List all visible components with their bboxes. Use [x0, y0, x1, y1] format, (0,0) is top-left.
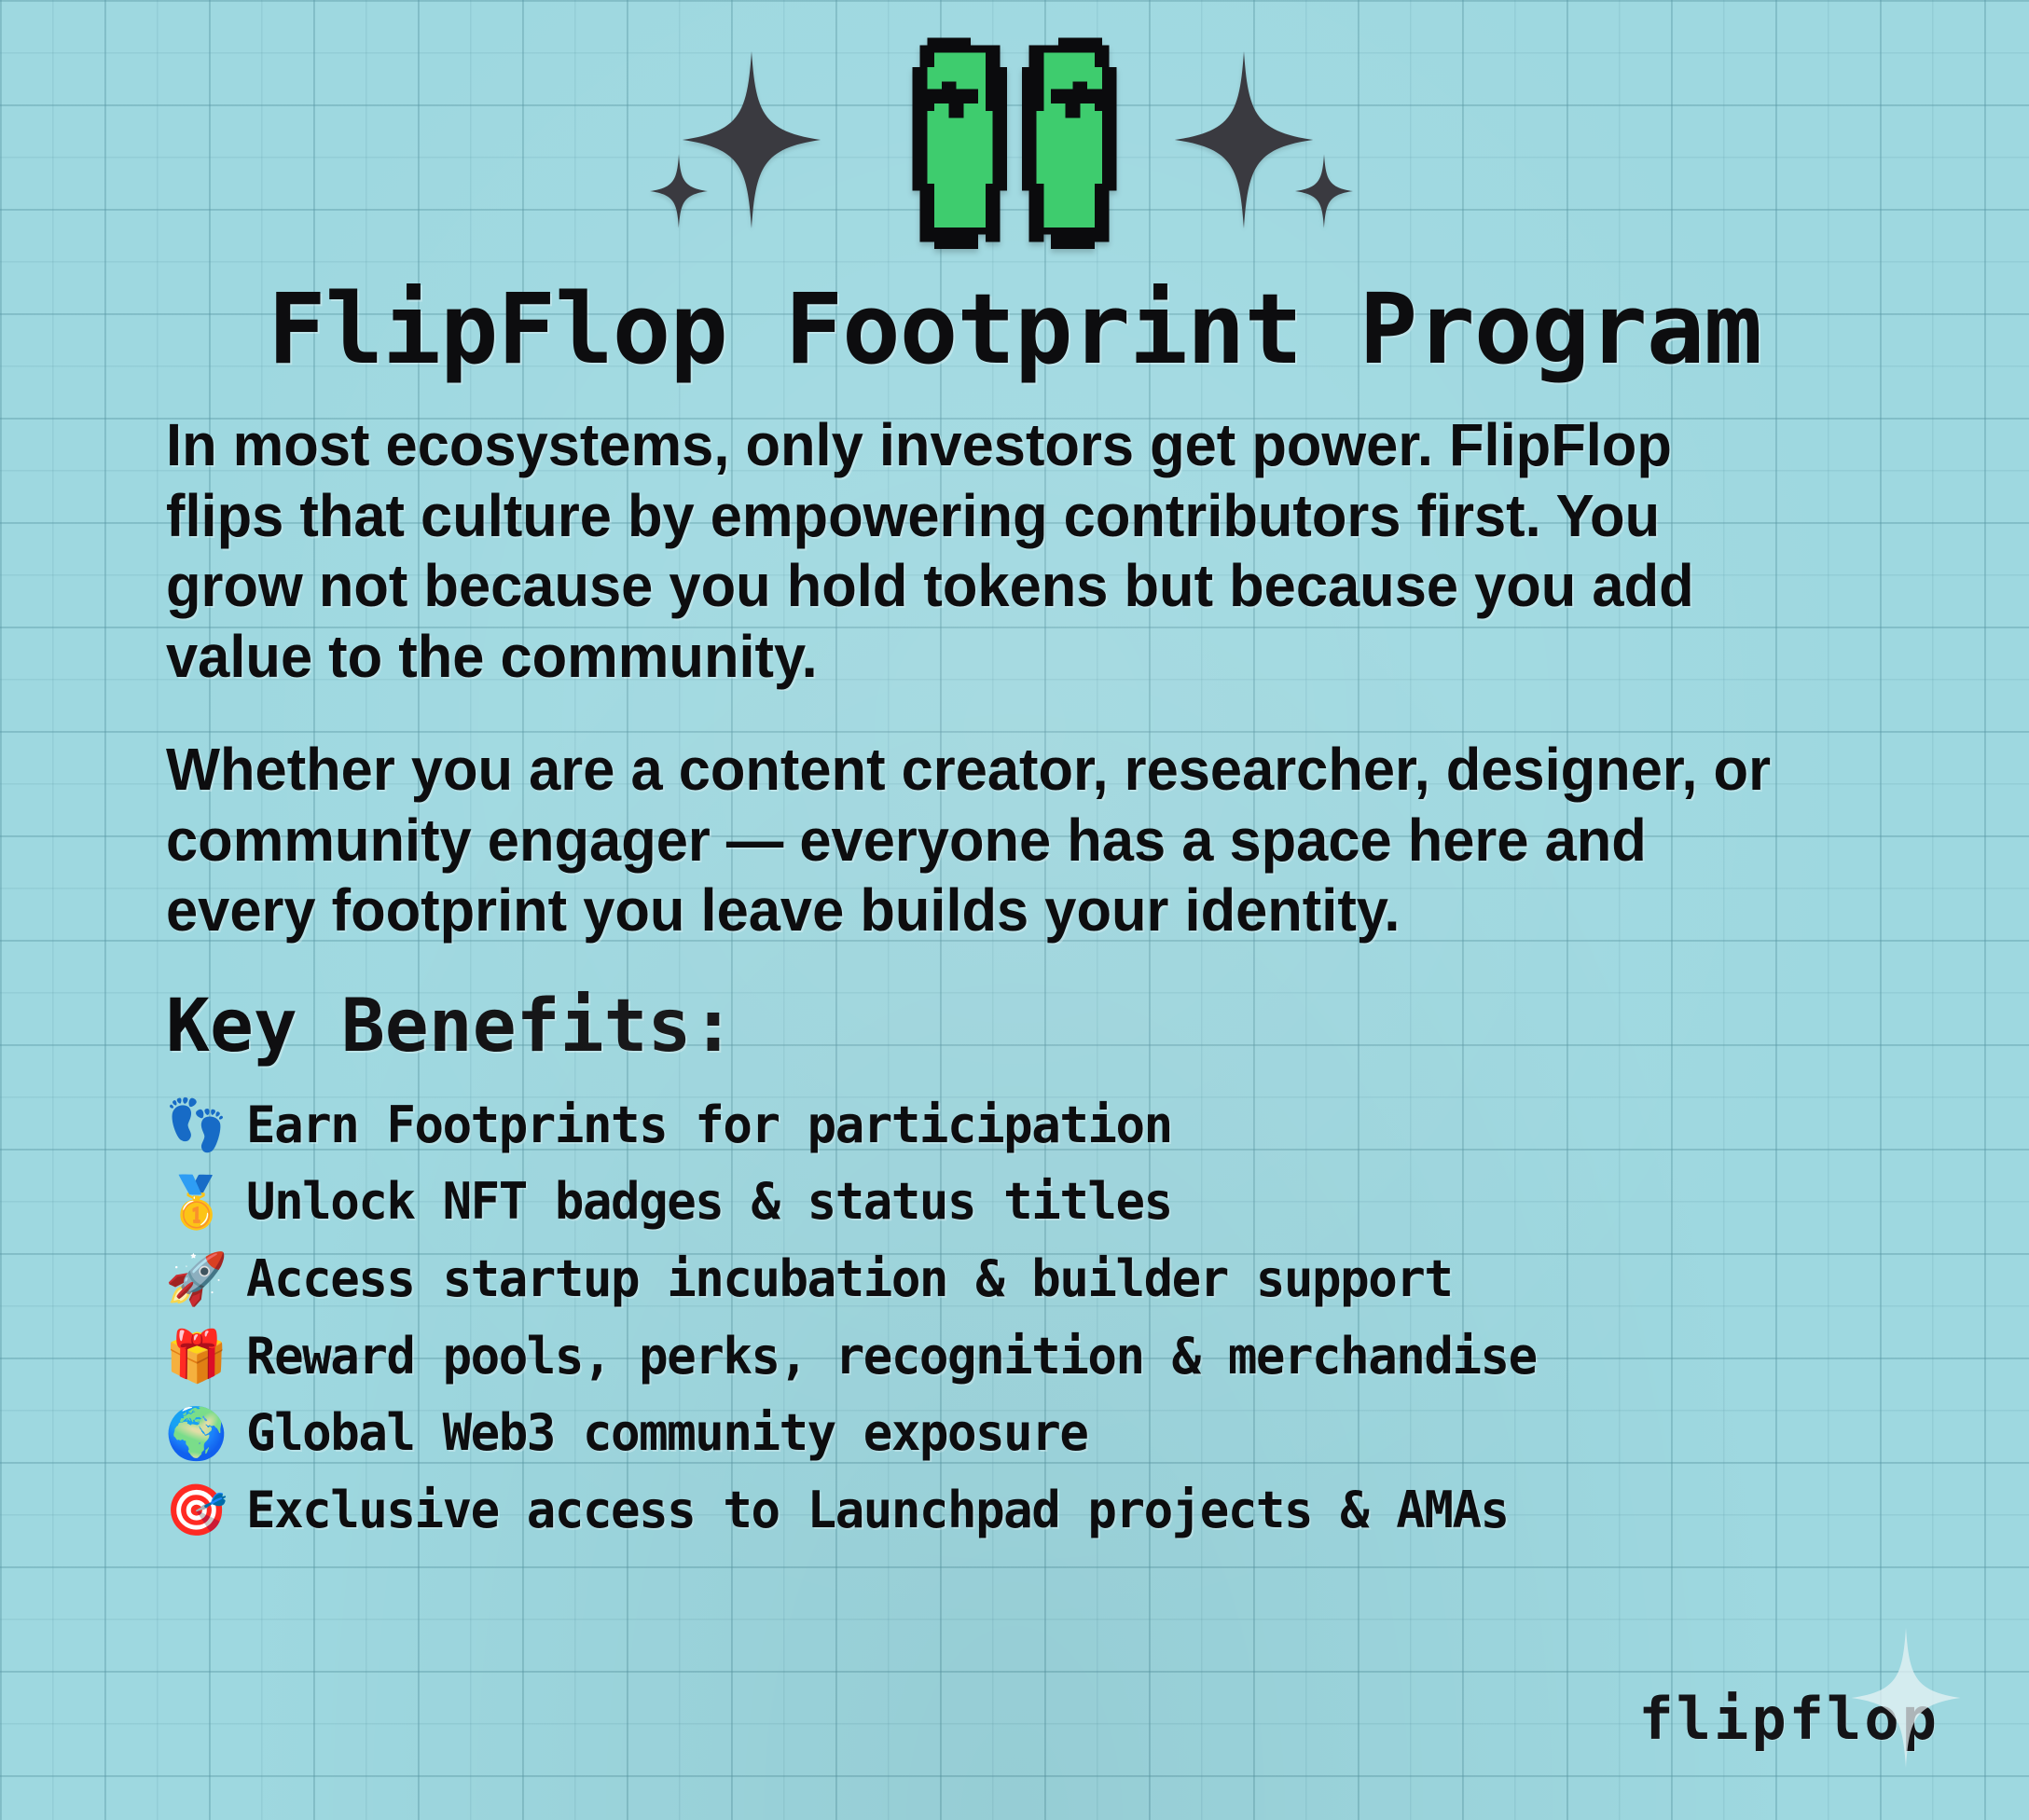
main-content: In most ecosystems, only investors get p…: [0, 379, 2029, 1547]
brand-watermark: flipflop: [1638, 1685, 1939, 1753]
logo-sparkle-icon: [1850, 1628, 1962, 1768]
benefit-label: Earn Footprints for participation: [246, 1090, 1172, 1162]
list-item: 🎯 Exclusive access to Launchpad projects…: [166, 1475, 1870, 1547]
list-item: 🌍 Global Web3 community exposure: [166, 1398, 1870, 1469]
list-item: 🚀 Access startup incubation & builder su…: [166, 1244, 1870, 1316]
sparkle-icon-small: [1295, 154, 1353, 228]
header-decoration-row: [0, 0, 2029, 280]
page-title: FlipFlop Footprint Program: [0, 280, 2029, 379]
benefit-label: Reward pools, perks, recognition & merch…: [246, 1321, 1537, 1393]
sparkle-icon-small: [650, 154, 708, 228]
benefit-label: Global Web3 community exposure: [246, 1398, 1087, 1469]
sparkle-decoration-left: [650, 33, 864, 247]
poster-canvas: FlipFlop Footprint Program In most ecosy…: [0, 0, 2029, 1820]
list-item: 🎁 Reward pools, perks, recognition & mer…: [166, 1321, 1870, 1393]
gift-icon: 🎁: [166, 1327, 226, 1386]
target-icon: 🎯: [166, 1481, 226, 1540]
intro-paragraph-1: In most ecosystems, only investors get p…: [166, 410, 1802, 692]
intro-paragraph-2: Whether you are a content creator, resea…: [166, 735, 1802, 946]
benefit-label: Exclusive access to Launchpad projects &…: [246, 1475, 1509, 1547]
medal-icon: 🥇: [166, 1173, 226, 1233]
rocket-icon: 🚀: [166, 1249, 226, 1309]
benefit-label: Unlock NFT badges & status titles: [246, 1166, 1172, 1238]
benefits-heading: Key Benefits:: [166, 989, 1870, 1066]
benefit-label: Access startup incubation & builder supp…: [246, 1244, 1452, 1316]
sparkle-decoration-right: [1165, 33, 1379, 247]
list-item: 🥇 Unlock NFT badges & status titles: [166, 1166, 1870, 1238]
benefits-list: 👣 Earn Footprints for participation 🥇 Un…: [166, 1090, 1870, 1547]
sparkle-icon: [1174, 51, 1314, 228]
globe-icon: 🌍: [166, 1404, 226, 1464]
list-item: 👣 Earn Footprints for participation: [166, 1090, 1870, 1162]
footprints-icon: 👣: [166, 1096, 226, 1155]
flipflop-sandals-icon: [898, 23, 1131, 256]
